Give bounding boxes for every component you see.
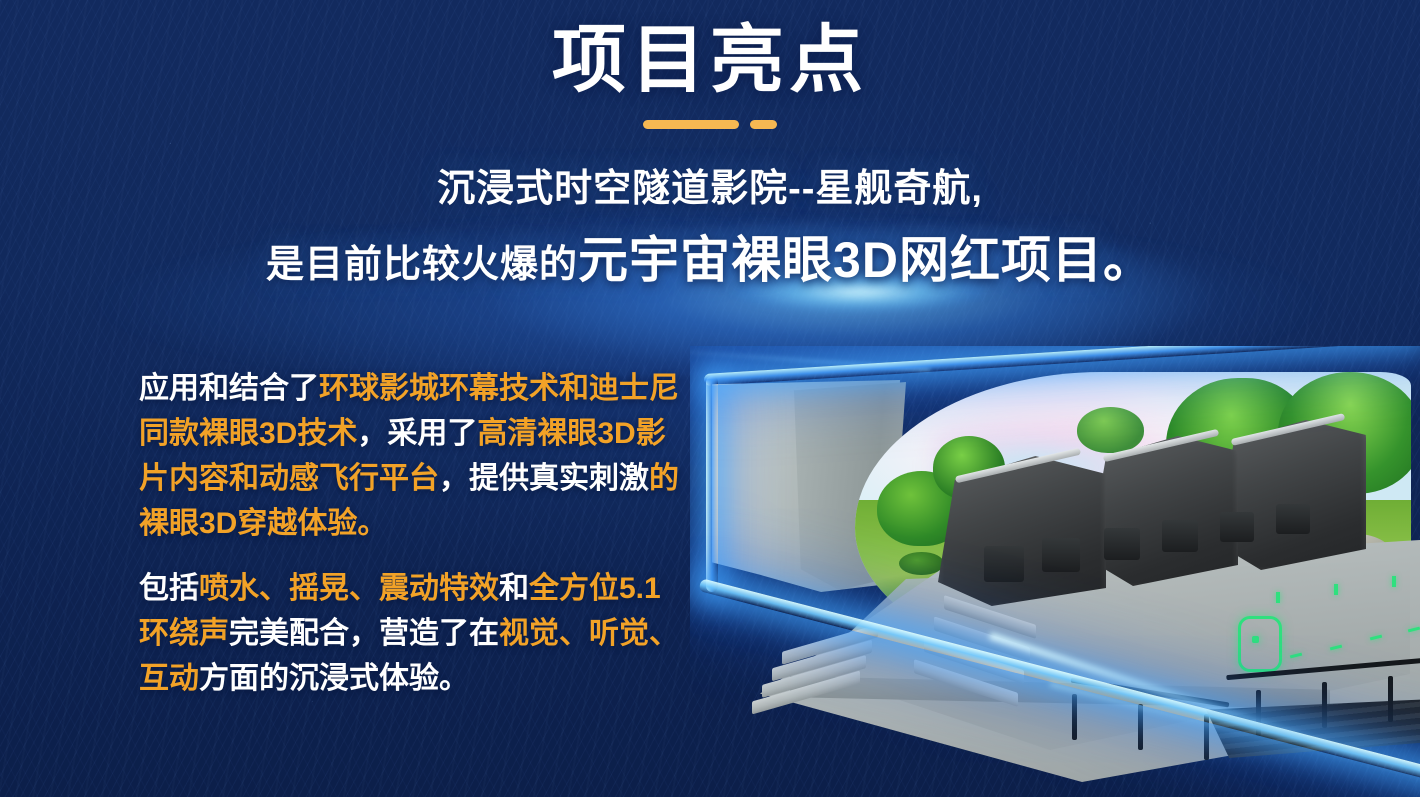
p2-seg-1: 包括: [139, 572, 199, 605]
pod-seat: [984, 546, 1024, 582]
pod-green-indicator: [1252, 636, 1259, 643]
p2-seg-7: 方面的沉浸式体验。: [199, 662, 469, 695]
subtitle-line-2-big: 元宇宙裸眼3D网红项目。: [578, 232, 1154, 288]
slide-root: 项目亮点 沉浸式时空隧道影院--星舰奇航, 是目前比较火爆的元宇宙裸眼3D网红项…: [0, 0, 1420, 797]
subtitle: 沉浸式时空隧道影院--星舰奇航, 是目前比较火爆的元宇宙裸眼3D网红项目。: [0, 165, 1420, 292]
theater-illustration-inner: [690, 346, 1420, 797]
subtitle-line-2-small: 是目前比较火爆的: [266, 244, 578, 286]
railing-post: [1138, 704, 1143, 750]
p1-seg-3: ，采用了: [357, 417, 477, 450]
pod-green-indicator: [1370, 635, 1382, 641]
pod-green-accent-ring: [1238, 616, 1282, 672]
title-divider: [0, 120, 1420, 129]
subtitle-line-1: 沉浸式时空隧道影院--星舰奇航,: [0, 165, 1420, 214]
divider-bar-long: [643, 120, 739, 129]
pod-seat: [1162, 520, 1198, 552]
pod-green-indicator: [1276, 592, 1280, 603]
theater-illustration: [690, 346, 1420, 797]
p1-seg-1: 应用和结合了: [139, 372, 319, 405]
paragraph-2: 包括喷水、摇晃、震动特效和全方位5.1环绕声完美配合，营造了在视觉、听觉、互动方…: [139, 566, 687, 701]
feature-description: 应用和结合了环球影城环幕技术和迪士尼同款裸眼3D技术，采用了高清裸眼3D影片内容…: [139, 366, 687, 701]
p2-seg-2-highlight: 喷水、摇晃、震动特效: [199, 572, 499, 605]
railing-post: [1388, 676, 1393, 722]
pod-seat: [1042, 538, 1080, 572]
pod-seat: [1276, 504, 1310, 534]
pod-green-indicator: [1290, 653, 1302, 659]
paragraph-1: 应用和结合了环球影城环幕技术和迪士尼同款裸眼3D技术，采用了高清裸眼3D影片内容…: [139, 366, 687, 546]
page-title: 项目亮点: [0, 20, 1420, 100]
p2-seg-5: 完美配合，营造了在: [229, 617, 499, 650]
glow-frame-left: [706, 376, 718, 592]
pod-green-indicator: [1330, 645, 1342, 651]
p1-seg-5: ，提供真实刺激: [439, 462, 649, 495]
subtitle-line-2: 是目前比较火爆的元宇宙裸眼3D网红项目。: [0, 228, 1420, 292]
pod-green-indicator: [1334, 584, 1338, 595]
railing-post: [1072, 694, 1077, 740]
pod-seat: [1104, 528, 1140, 560]
pod-green-indicator: [1392, 576, 1396, 587]
pod-seat: [1220, 512, 1254, 542]
p2-seg-3: 和: [499, 572, 529, 605]
divider-bar-short: [750, 120, 777, 129]
railing-post: [1322, 682, 1327, 728]
